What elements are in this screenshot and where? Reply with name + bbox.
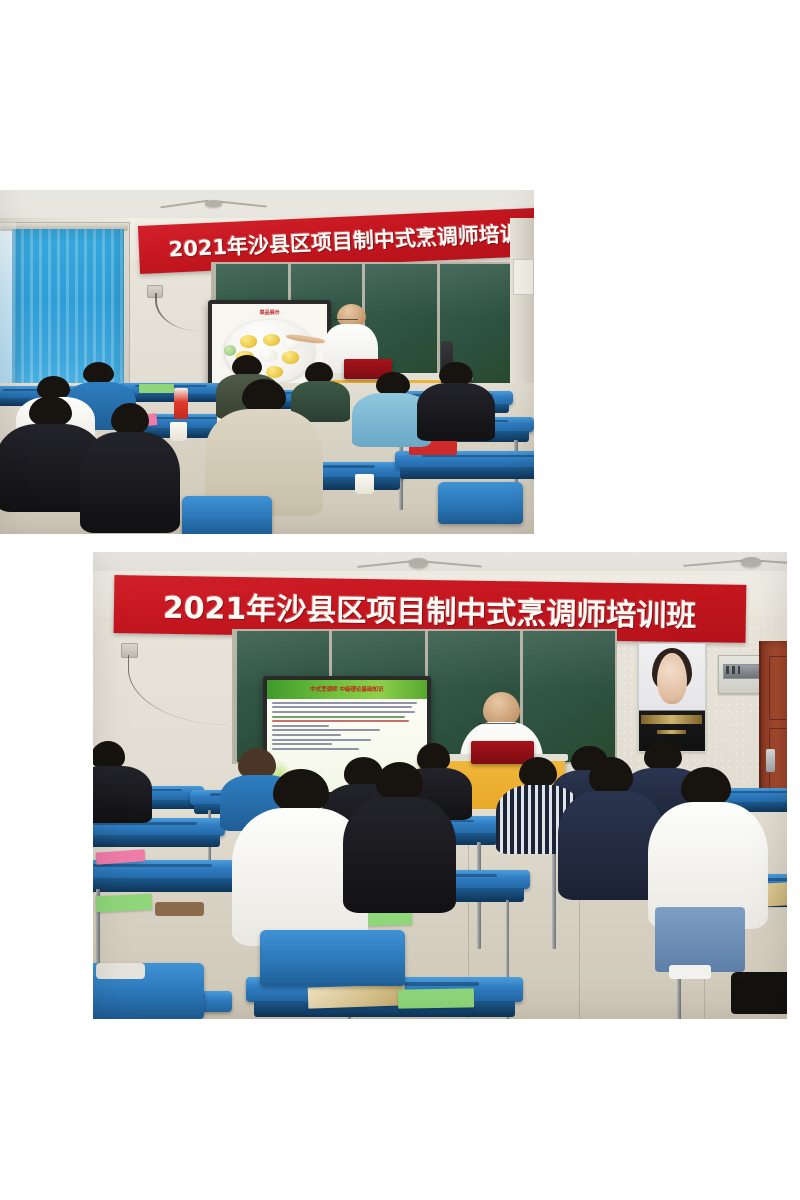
ceiling-fan (683, 553, 787, 572)
shoe (96, 963, 145, 979)
fan-blade (216, 201, 267, 208)
poster-band (641, 715, 702, 724)
slide-text-line (272, 739, 371, 741)
poster-subband (657, 730, 686, 734)
fan-blade (758, 560, 787, 566)
photo-1-content: 2021年沙县区项目制中式烹调师培训 菜品展示 (0, 190, 534, 534)
banner-text: 2021年沙县区项目制中式烹调师培训班 (162, 583, 696, 635)
student (80, 403, 181, 527)
student-jeans (655, 907, 745, 972)
green-folder (398, 988, 475, 1008)
student-torso (417, 383, 495, 441)
fan-hub (205, 200, 222, 207)
sandal (155, 902, 204, 916)
food-item (240, 335, 257, 348)
student (343, 762, 461, 907)
panel-switch (732, 666, 734, 674)
banner-text: 2021年沙县区项目制中式烹调师培训 (168, 218, 521, 264)
student-torso (93, 766, 152, 823)
bag (731, 972, 787, 1014)
desk-leg (552, 846, 556, 949)
panel-window (723, 664, 762, 679)
slide-text-line (272, 734, 341, 736)
instructor-head (483, 692, 520, 726)
fan-blade (160, 199, 209, 208)
desk-apron (400, 467, 534, 479)
fan-blade (422, 561, 482, 568)
student-torso (80, 432, 179, 534)
student-head (273, 769, 329, 813)
student-head (242, 379, 286, 413)
document-page: 2021年沙县区项目制中式烹调师培训 菜品展示 (0, 0, 800, 1200)
slide-text-line (272, 743, 332, 745)
desk-apron (93, 878, 239, 892)
panel-switch (738, 666, 740, 674)
slide-text-line (272, 716, 405, 718)
panel-switch (726, 666, 728, 674)
classroom-photo-2[interactable]: 2021年沙县区项目制中式烹调师培训班 中式烹调师 中级理论基础知识 (93, 552, 787, 1019)
student-head (519, 757, 557, 788)
green-folder (96, 894, 152, 913)
window-light-highlight (0, 222, 16, 408)
slide-text-line (272, 720, 409, 722)
slide-text-line (272, 706, 412, 708)
wall-notice (513, 259, 534, 295)
green-folder (139, 384, 174, 393)
classroom-photo-1[interactable]: 2021年沙县区项目制中式烹调师培训 菜品展示 (0, 190, 534, 534)
slide-header-text: 中式烹调师 中级理论基础知识 (310, 685, 383, 693)
food-item (263, 334, 280, 347)
student (417, 362, 497, 438)
student-head (376, 762, 423, 801)
slide-text-line (272, 702, 417, 704)
slide-header: 中式烹调师 中级理论基础知识 (267, 680, 427, 699)
student (203, 379, 326, 510)
poster-face (657, 653, 687, 705)
chair (438, 482, 523, 523)
instructor-glasses-icon (334, 319, 358, 324)
student-head (681, 767, 731, 807)
photo-2-content: 2021年沙县区项目制中式烹调师培训班 中式烹调师 中级理论基础知识 (93, 552, 787, 1019)
fan-blade (683, 559, 750, 567)
ceiling-fan (357, 554, 482, 573)
fan-hub (741, 557, 760, 566)
chair (182, 496, 273, 534)
desk-apron (93, 835, 220, 847)
slide-text-line (272, 711, 415, 713)
student-head (29, 396, 71, 427)
slide-text-line (272, 725, 329, 727)
fan-blade (357, 560, 414, 568)
student-shoe (669, 965, 711, 979)
student-head (111, 403, 150, 435)
door-panel (769, 656, 787, 720)
textbook (308, 985, 406, 1009)
fan-hub (409, 558, 428, 568)
ceiling-fan (160, 195, 267, 212)
instructor-glasses-icon (478, 723, 516, 729)
chair (260, 930, 406, 986)
student (648, 767, 773, 926)
student (93, 741, 155, 820)
wall-poster (638, 643, 706, 752)
student-torso (343, 797, 456, 913)
student-head (589, 757, 633, 795)
slide-text-line (272, 729, 380, 731)
paper-cup (355, 474, 374, 495)
